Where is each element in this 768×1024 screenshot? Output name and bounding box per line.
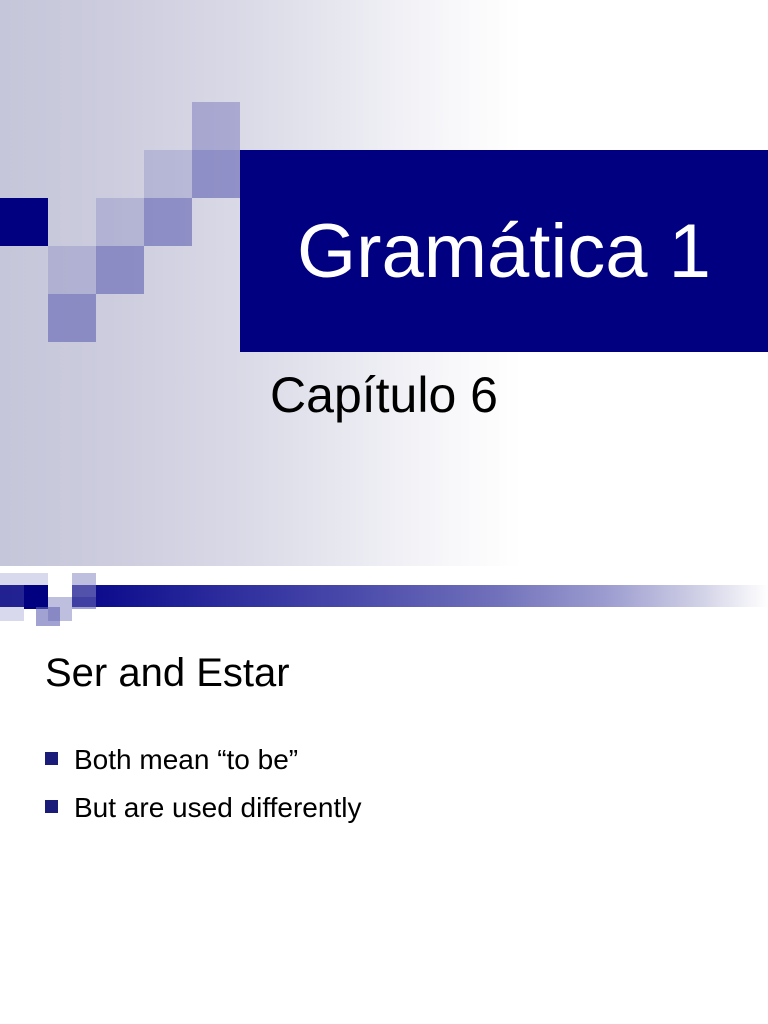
slide-canvas: Gramática 1 Capítulo 6 Ser and Estar Bot… <box>0 0 768 1024</box>
bullet-square-icon <box>45 800 58 813</box>
bullet-square-icon <box>45 752 58 765</box>
decorative-square-icon <box>144 150 192 198</box>
page-subtitle: Capítulo 6 <box>0 366 768 424</box>
decorative-square-icon <box>96 246 144 294</box>
decorative-square-icon <box>144 198 192 246</box>
decorative-square-icon <box>72 585 96 609</box>
decorative-square-icon <box>96 198 144 246</box>
list-item: But are used differently <box>45 792 705 824</box>
list-item-label: Both mean “to be” <box>74 744 298 776</box>
section-divider <box>0 566 768 626</box>
bullet-list: Both mean “to be” But are used different… <box>45 744 705 840</box>
decorative-square-icon <box>0 198 48 246</box>
title-section: Gramática 1 Capítulo 6 <box>0 0 768 566</box>
page-title: Gramática 1 <box>240 150 768 352</box>
decorative-square-icon <box>192 150 240 198</box>
decorative-square-icon <box>24 585 48 609</box>
decorative-square-icon <box>0 597 24 621</box>
decorative-square-icon <box>0 573 24 597</box>
decorative-square-icon <box>192 102 240 150</box>
decorative-square-icon <box>48 246 96 294</box>
divider-gradient-bar <box>0 585 768 607</box>
body-heading: Ser and Estar <box>45 651 290 696</box>
body-section: Ser and Estar Both mean “to be” But are … <box>0 626 768 1024</box>
decorative-square-icon <box>48 294 96 342</box>
list-item-label: But are used differently <box>74 792 361 824</box>
list-item: Both mean “to be” <box>45 744 705 776</box>
